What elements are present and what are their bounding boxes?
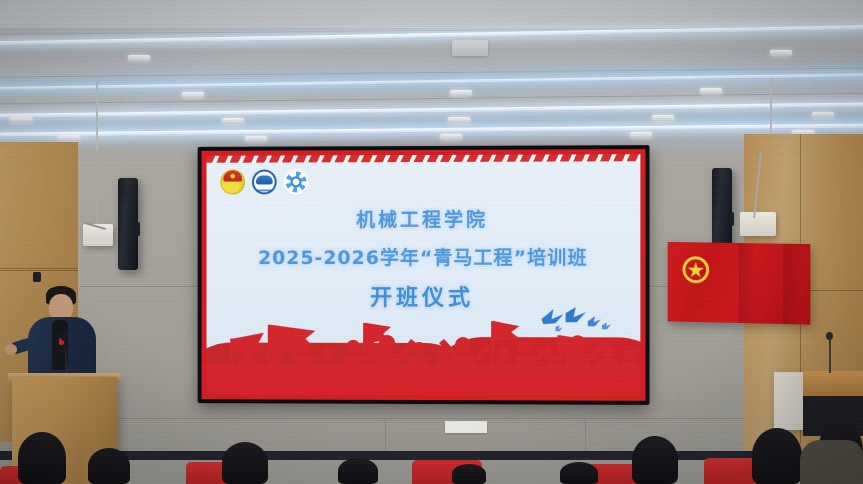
university-seal-emblem-icon [252,169,277,194]
slide-content: 机械工程学院 2025-2026学年“青马工程”培训班 开班仪式 [207,154,641,396]
ceiling-vent [452,40,488,56]
left-wood-seam [0,268,78,269]
table-microphone-head-icon [826,332,833,340]
downlight-12 [245,136,267,142]
downlight-11 [58,135,80,141]
audience-head [338,458,378,484]
downlight-13 [440,134,462,140]
audience-head [88,448,130,484]
audience-head [18,432,66,484]
slide-logo-row [220,169,308,194]
communist-youth-league-emblem-icon [220,170,245,195]
wall-seam-lower [80,418,760,419]
downlight-8 [448,117,470,123]
downlight-1 [128,55,150,61]
lecture-hall-photo: 机械工程学院 2025-2026学年“青马工程”培训班 开班仪式 [0,0,863,484]
ceiling-hanger-rod-left [96,82,98,154]
wall-speaker-left [118,178,138,270]
downlight-4 [450,90,472,96]
crowd-silhouette-graphic [207,313,641,378]
ceiling-hanger-rod-right [770,78,772,140]
ceiling-band-top [0,0,863,28]
audience-head [222,442,268,484]
wall-sign [445,421,487,433]
presider-table [803,371,863,397]
downlight-2 [770,50,792,56]
downlight-10 [812,112,834,118]
audience-head [752,428,802,484]
downlight-7 [222,118,244,124]
presentation-slide: 机械工程学院 2025-2026学年“青马工程”培训班 开班仪式 [202,149,646,401]
downlight-9 [652,115,674,121]
wall-seam-vertical-1 [385,418,386,452]
audience-head [632,436,678,484]
slide-top-stripe [207,154,641,163]
mechanical-engineering-gear-emblem-icon [284,169,309,194]
downlight-5 [700,88,722,94]
slide-title-line2: 2025-2026学年“青马工程”培训班 [207,243,641,270]
table-microphone-stem [829,337,831,373]
audience-head [452,464,486,484]
audience-shoulders [800,440,863,484]
projection-screen[interactable]: 机械工程学院 2025-2026学年“青马工程”培训班 开班仪式 [198,145,650,405]
audience-head [560,462,598,484]
slide-title-line1: 机械工程学院 [207,205,641,233]
speaker-hand [5,344,17,355]
slide-title-block: 机械工程学院 2025-2026学年“青马工程”培训班 开班仪式 [207,205,641,313]
communist-youth-league-flag [668,242,811,325]
wall-seam-vertical-2 [585,418,586,452]
wall-camera-icon [33,272,41,282]
ceiling [0,0,863,152]
downlight-3 [182,92,204,98]
projector-mount-arm-left [96,152,98,224]
wall-control-box-right [740,212,776,236]
downlight-14 [630,132,652,138]
downlight-6 [10,117,32,123]
podium-microphone-head-icon [61,332,67,341]
flag-star-icon [687,262,704,279]
flag-star-ring-icon [682,256,709,283]
